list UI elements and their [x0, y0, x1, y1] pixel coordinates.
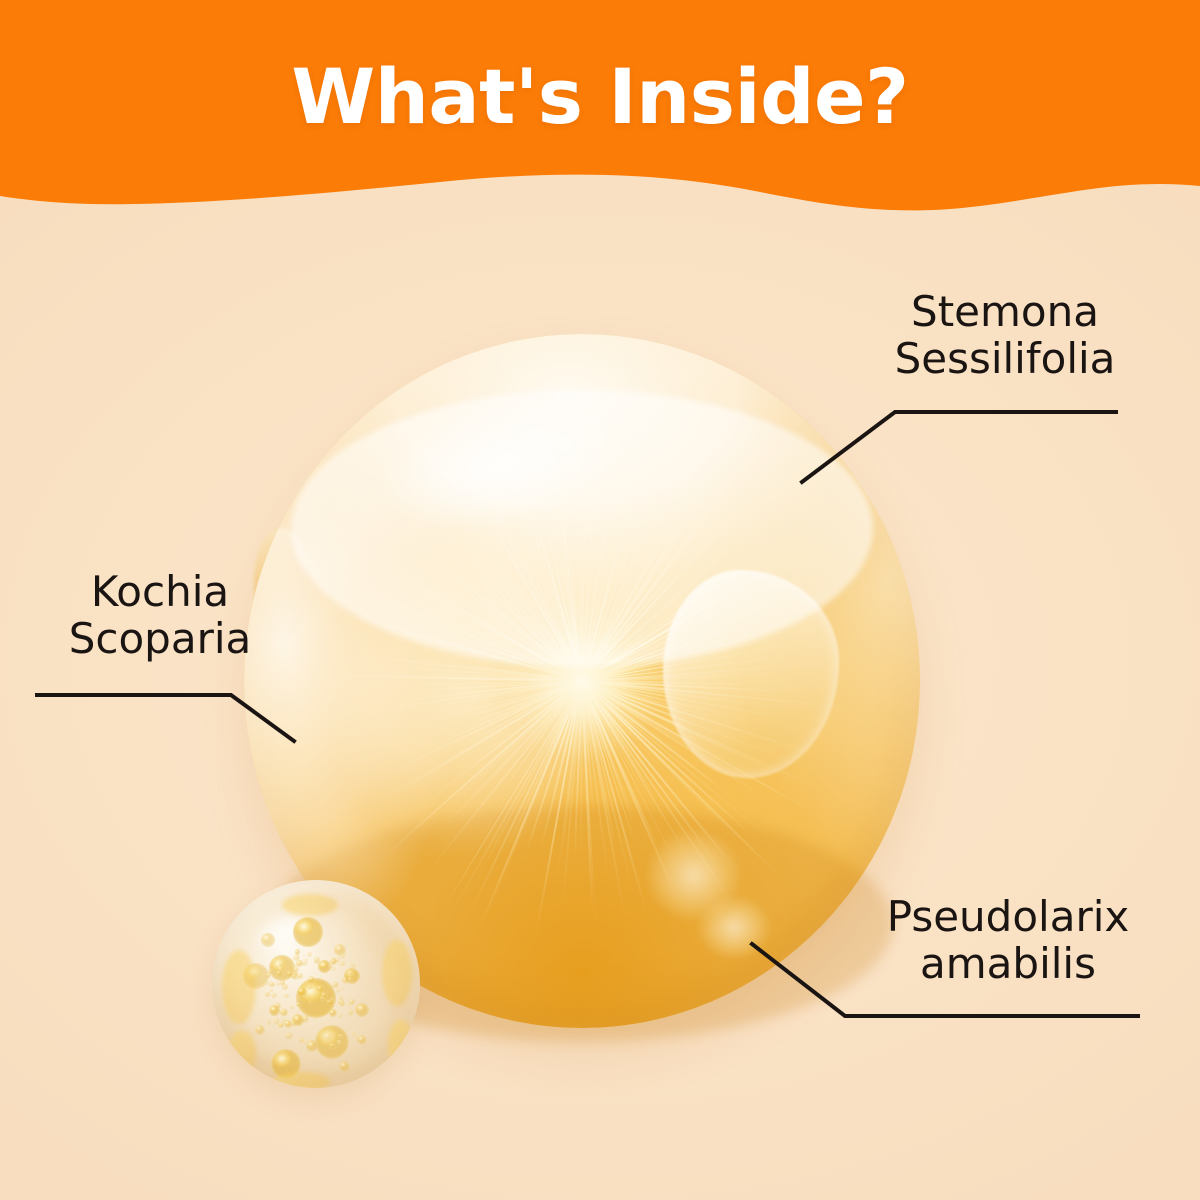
mini-droplet-microbubble: [340, 987, 344, 991]
mini-droplet-microbubble: [338, 963, 341, 966]
mini-droplet-microbubble: [348, 1009, 354, 1015]
mini-droplet-microbubble: [267, 1020, 271, 1024]
mini-droplet-microbubble: [338, 1013, 343, 1018]
mini-droplet-microbubble: [307, 952, 312, 957]
mini-droplet-microbubble: [329, 1009, 337, 1017]
header-banner: What's Inside?: [0, 0, 1200, 240]
mini-droplet-microbubble: [308, 976, 316, 984]
mini-droplet-microbubble: [340, 1001, 345, 1006]
mini-droplet-microbubble: [269, 982, 275, 988]
mini-droplet-microbubble: [270, 989, 273, 992]
mini-droplet-microbubble: [314, 957, 321, 964]
mini-droplet-microbubble: [337, 1040, 341, 1044]
mini-droplet-microbubble: [325, 1033, 332, 1040]
mini-droplet-streak: [222, 950, 256, 1024]
mini-droplet-microbubble: [296, 1002, 302, 1008]
mini-droplet-microbubble: [342, 976, 349, 983]
mini-droplet-microbubble: [279, 961, 285, 967]
callout-label-kochia: Kochia Scoparia: [10, 568, 310, 662]
ingredient-infographic: Stemona Sessilifolia Kochia Scoparia Pse…: [0, 0, 1200, 1200]
mini-droplet-microbubble: [284, 1020, 291, 1027]
mini-droplet-microbubble: [278, 1022, 284, 1028]
mini-droplet-bubble: [293, 917, 323, 947]
mini-droplet-microbubble: [265, 992, 271, 998]
callout-label-pseudolarix: Pseudolarix amabilis: [838, 893, 1178, 987]
mini-droplet-microbubble: [266, 982, 269, 985]
mini-droplet-microbubble: [341, 961, 345, 965]
mini-droplet-streak: [382, 940, 412, 1006]
mini-droplet-microbubble: [274, 1003, 281, 1010]
mini-droplet-microbubble: [352, 1016, 355, 1019]
mini-droplet-microbubble: [303, 1038, 306, 1041]
mini-droplet-microbubble: [292, 966, 299, 973]
mini-droplet-microbubble: [317, 985, 324, 992]
mini-droplet-microbubble: [280, 980, 285, 985]
mini-droplet-microbubble: [290, 1006, 293, 1009]
mini-droplet-microbubble: [338, 1034, 342, 1038]
mini-droplet-bubble: [297, 987, 307, 997]
page-title: What's Inside?: [0, 52, 1200, 141]
mini-droplet-bubble: [306, 1040, 318, 1052]
mini-droplet-microbubble: [266, 973, 271, 978]
callout-label-stemona: Stemona Sessilifolia: [840, 288, 1170, 382]
mini-droplet-streak: [272, 1072, 330, 1088]
mini-droplet-microbubble: [347, 1003, 351, 1007]
mini-droplet-microbubble: [326, 999, 333, 1006]
mini-droplet-bubble: [355, 1003, 369, 1017]
mini-droplet-microbubble: [328, 964, 333, 969]
mini-droplet-streak: [228, 1030, 256, 1076]
mini-droplet-microbubble: [285, 1032, 293, 1040]
mini-droplet-bubble: [339, 1061, 350, 1072]
mini-droplet-microbubble: [320, 996, 325, 1001]
mini-droplet-microbubble: [313, 1016, 317, 1020]
mini-droplet-microbubble: [293, 954, 300, 961]
mini-droplet-microbubble: [301, 1015, 309, 1023]
mini-droplet-microbubble: [279, 967, 282, 970]
mini-droplet-microbubble: [340, 953, 346, 959]
mini-droplet-bubble: [255, 1025, 265, 1035]
mini-droplet-microbubble: [332, 982, 338, 988]
mini-droplet-streak: [388, 1020, 414, 1070]
mini-droplet-microbubble: [284, 994, 289, 999]
mini-droplet-microbubble: [303, 955, 305, 957]
mini-droplet-microbubble: [297, 973, 303, 979]
mini-droplet-microbubble: [297, 997, 301, 1001]
mini-droplet-streak: [282, 894, 338, 916]
mini-droplet-microbubble: [276, 970, 283, 977]
mini-droplet-microbubble: [271, 993, 277, 999]
mini-droplet-microbubble: [297, 1010, 300, 1013]
mini-droplet-bubble: [261, 933, 275, 947]
mini-droplet-microbubble: [308, 1000, 313, 1005]
mini-droplet-microbubble: [350, 963, 356, 969]
mini-droplet-microbubble: [301, 959, 308, 966]
mini-droplet-illustration: [212, 880, 420, 1088]
mini-droplet-microbubble: [352, 1032, 357, 1037]
